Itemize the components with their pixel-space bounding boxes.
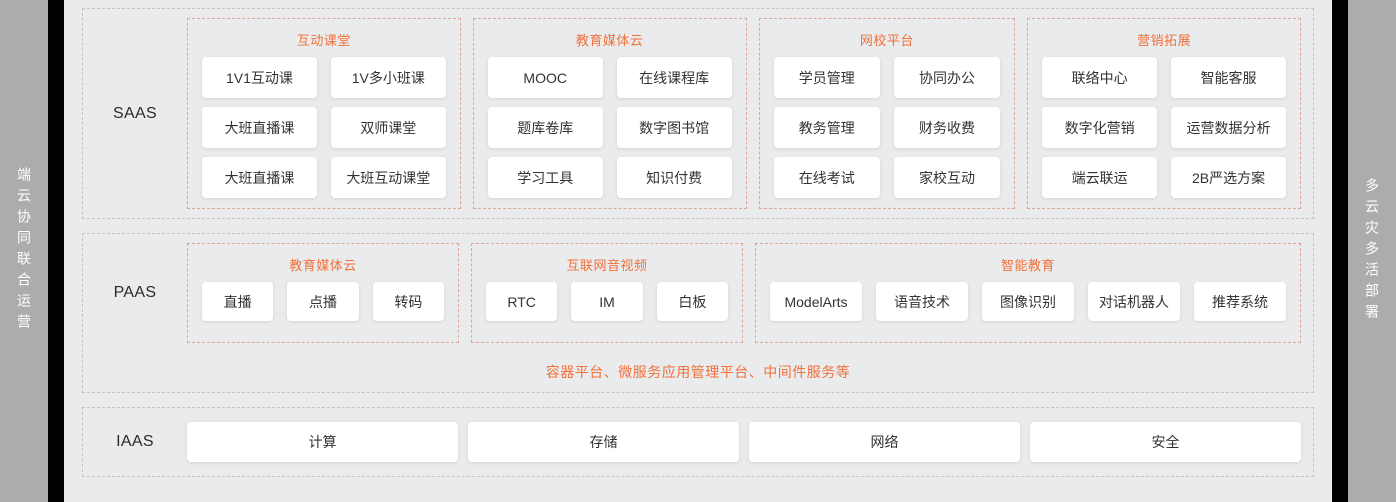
tier-label-saas: SAAS	[83, 9, 187, 218]
card-item[interactable]: 数字图书馆	[617, 107, 732, 148]
right-rail-divider	[1332, 0, 1348, 502]
right-rail-label: 多云灾多活部署	[1365, 178, 1379, 325]
tier-label-iaas: IAAS	[83, 408, 187, 476]
card-item[interactable]: 大班直播课	[202, 157, 317, 198]
card-item[interactable]: 教务管理	[774, 107, 880, 148]
left-rail-divider	[48, 0, 64, 502]
group-grid: MOOC 在线课程库 题库卷库 数字图书馆 学习工具 知识付费	[488, 57, 732, 198]
card-item[interactable]: 在线课程库	[617, 57, 732, 98]
card-item[interactable]: 双师课堂	[331, 107, 446, 148]
tier-iaas: IAAS 计算 存储 网络 安全	[82, 407, 1314, 477]
card-item[interactable]: RTC	[486, 282, 557, 321]
card-item[interactable]: 1V1互动课	[202, 57, 317, 98]
group-title: 互联网音视频	[566, 255, 647, 274]
group-grid: 直播 点播 转码	[202, 282, 444, 321]
group-智能教育: 智能教育 ModelArts 语音技术 图像识别 对话机器人 推荐系统	[755, 243, 1301, 343]
group-营销拓展: 营销拓展 联络中心 智能客服 数字化营销 运营数据分析 端云联运 2B严选方案	[1027, 18, 1301, 209]
tier-saas: SAAS 互动课堂 1V1互动课 1V多小班课 大班直播课 双师课堂 大班直播课…	[82, 8, 1314, 219]
tier-label-paas: PAAS	[83, 234, 187, 352]
card-item[interactable]: 计算	[187, 422, 458, 462]
group-title: 教育媒体云	[289, 255, 357, 274]
right-rail: 多云灾多活部署	[1348, 0, 1396, 502]
card-item[interactable]: 财务收费	[894, 107, 1000, 148]
card-item[interactable]: 运营数据分析	[1171, 107, 1286, 148]
group-grid: 联络中心 智能客服 数字化营销 运营数据分析 端云联运 2B严选方案	[1042, 57, 1286, 198]
card-item[interactable]: 网络	[749, 422, 1020, 462]
group-grid: 学员管理 协同办公 教务管理 财务收费 在线考试 家校互动	[774, 57, 1001, 198]
card-item[interactable]: 协同办公	[894, 57, 1000, 98]
card-item[interactable]: 存储	[468, 422, 739, 462]
card-item[interactable]: 推荐系统	[1194, 282, 1286, 321]
paas-footer-note: 容器平台、微服务应用管理平台、中间件服务等	[83, 352, 1313, 392]
group-title: 网校平台	[860, 30, 914, 49]
architecture-diagram: 端云协同联合运营 SAAS 互动课堂 1V1互动课 1V多小班课 大班直播课 双…	[0, 0, 1396, 502]
card-item[interactable]: 学习工具	[488, 157, 603, 198]
card-item[interactable]: 直播	[202, 282, 273, 321]
group-网校平台: 网校平台 学员管理 协同办公 教务管理 财务收费 在线考试 家校互动	[759, 18, 1016, 209]
card-item[interactable]: 题库卷库	[488, 107, 603, 148]
card-item[interactable]: 安全	[1030, 422, 1301, 462]
group-title: 营销拓展	[1137, 30, 1191, 49]
group-grid: 1V1互动课 1V多小班课 大班直播课 双师课堂 大班直播课 大班互动课堂	[202, 57, 446, 198]
card-item[interactable]: MOOC	[488, 57, 603, 98]
group-教育媒体云-saas: 教育媒体云 MOOC 在线课程库 题库卷库 数字图书馆 学习工具 知识付费	[473, 18, 747, 209]
card-item[interactable]: 大班直播课	[202, 107, 317, 148]
card-item[interactable]: 白板	[657, 282, 728, 321]
diagram-stage: SAAS 互动课堂 1V1互动课 1V多小班课 大班直播课 双师课堂 大班直播课…	[64, 0, 1332, 502]
card-item[interactable]: 家校互动	[894, 157, 1000, 198]
tier-paas: PAAS 教育媒体云 直播 点播 转码 互联网音视频 RTC	[82, 233, 1314, 393]
card-item[interactable]: 图像识别	[982, 282, 1074, 321]
group-title: 互动课堂	[297, 30, 351, 49]
group-互动课堂: 互动课堂 1V1互动课 1V多小班课 大班直播课 双师课堂 大班直播课 大班互动…	[187, 18, 461, 209]
tier-paas-row: PAAS 教育媒体云 直播 点播 转码 互联网音视频 RTC	[83, 234, 1313, 352]
card-item[interactable]: 语音技术	[876, 282, 968, 321]
card-item[interactable]: 转码	[373, 282, 444, 321]
card-item[interactable]: 大班互动课堂	[331, 157, 446, 198]
card-item[interactable]: 智能客服	[1171, 57, 1286, 98]
card-item[interactable]: 数字化营销	[1042, 107, 1157, 148]
card-item[interactable]: 端云联运	[1042, 157, 1157, 198]
group-互联网音视频: 互联网音视频 RTC IM 白板	[471, 243, 743, 343]
tier-body-saas: 互动课堂 1V1互动课 1V多小班课 大班直播课 双师课堂 大班直播课 大班互动…	[187, 9, 1313, 218]
group-grid: RTC IM 白板	[486, 282, 728, 321]
card-item[interactable]: 知识付费	[617, 157, 732, 198]
tier-body-paas: 教育媒体云 直播 点播 转码 互联网音视频 RTC IM 白板	[187, 234, 1313, 352]
card-item[interactable]: 在线考试	[774, 157, 880, 198]
group-教育媒体云-paas: 教育媒体云 直播 点播 转码	[187, 243, 459, 343]
group-title: 教育媒体云	[576, 30, 644, 49]
card-item[interactable]: 联络中心	[1042, 57, 1157, 98]
card-item[interactable]: 学员管理	[774, 57, 880, 98]
left-rail-label: 端云协同联合运营	[17, 167, 31, 335]
group-title: 智能教育	[1001, 255, 1055, 274]
card-item[interactable]: 1V多小班课	[331, 57, 446, 98]
card-item[interactable]: 点播	[287, 282, 358, 321]
tier-body-iaas: 计算 存储 网络 安全	[187, 408, 1313, 476]
card-item[interactable]: 对话机器人	[1088, 282, 1180, 321]
left-rail: 端云协同联合运营	[0, 0, 48, 502]
card-item[interactable]: ModelArts	[770, 282, 862, 321]
card-item[interactable]: 2B严选方案	[1171, 157, 1286, 198]
card-item[interactable]: IM	[571, 282, 642, 321]
group-grid: ModelArts 语音技术 图像识别 对话机器人 推荐系统	[770, 282, 1286, 321]
